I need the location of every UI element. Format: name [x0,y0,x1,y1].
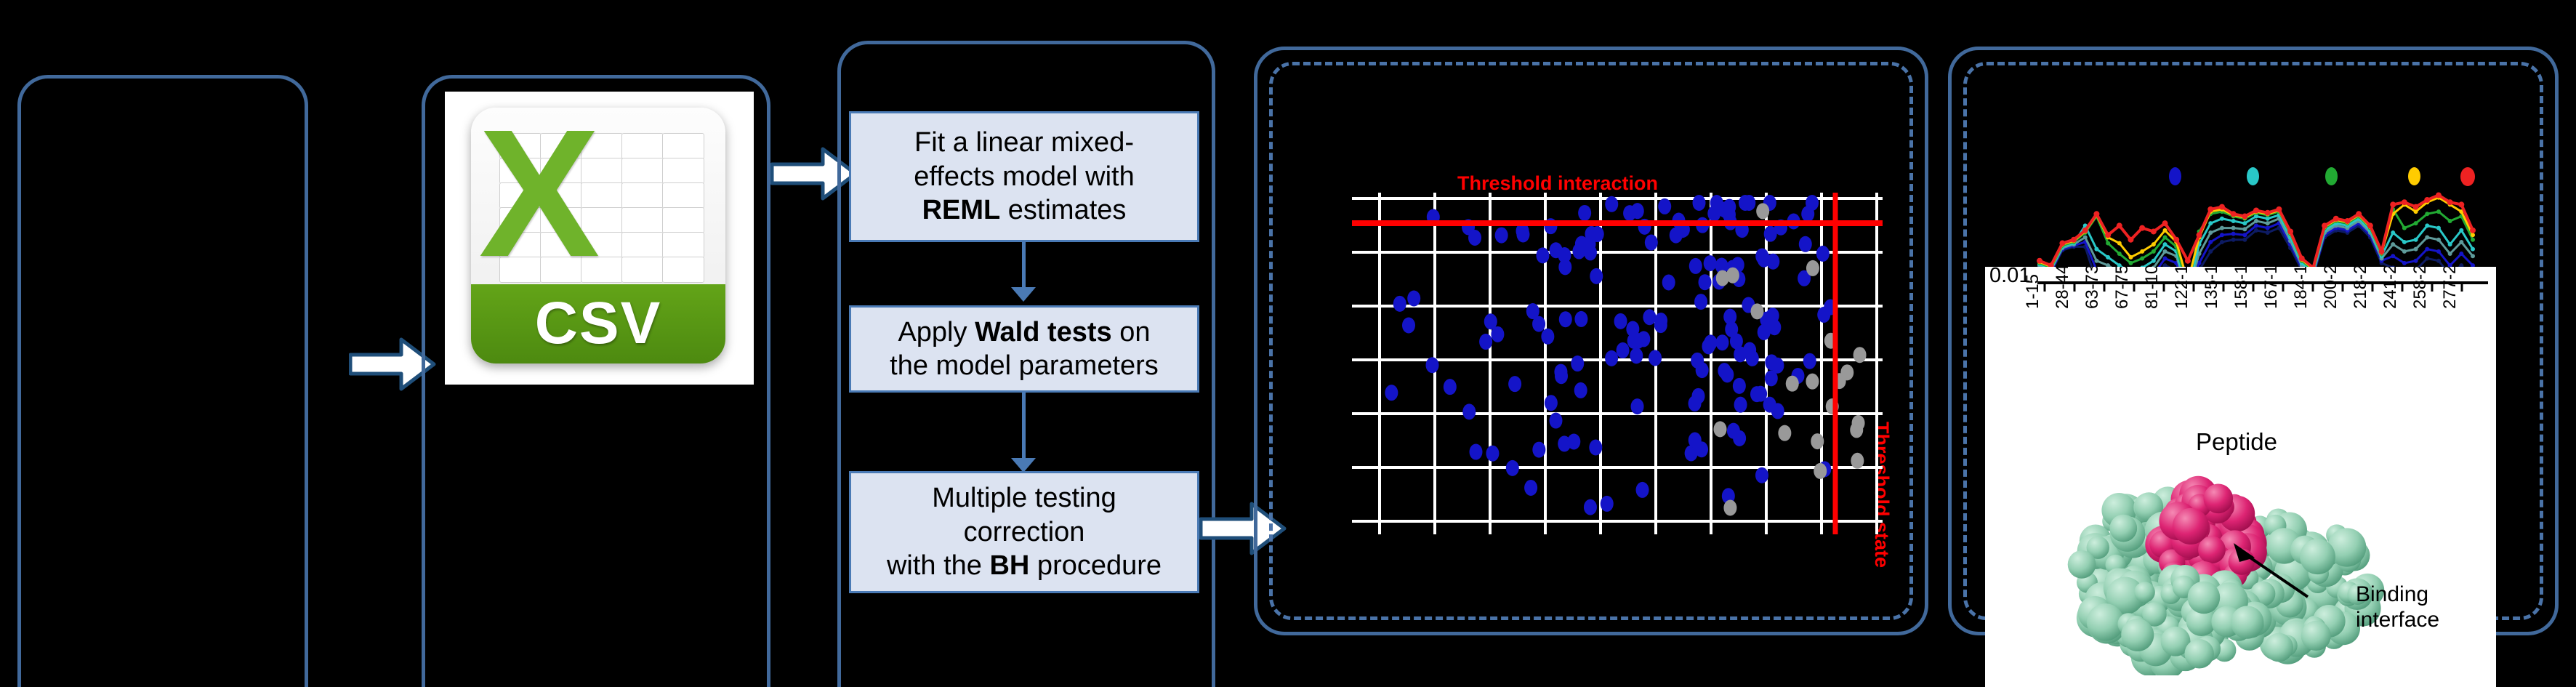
chart-data-point [2436,238,2441,242]
chart-data-point [2333,216,2339,222]
chart-data-point [2425,223,2429,228]
chart-data-point [2299,255,2305,261]
chart-data-point [2390,201,2396,207]
chart-data-point [2436,226,2441,230]
chart-data-point [2276,206,2282,212]
scatter-plot [1352,193,1883,534]
peptide-tick-label: 200-214 [2321,267,2341,309]
chart-data-point [2254,223,2258,228]
scatter-point [1765,354,1778,370]
peptide-tick-label: 158-166 [2231,267,2252,309]
scatter-point [1589,440,1602,456]
scatter-point [1623,205,1636,221]
scatter-point [1575,236,1588,252]
scatter-point [1462,403,1476,419]
chart-data-point [2242,233,2247,237]
scatter-point [1689,433,1702,449]
csv-file-icon: X CSV [471,108,725,363]
scatter-point [1704,255,1717,271]
spreadsheet-cell [662,207,704,233]
scatter-point [1704,334,1717,350]
scatter-point [1713,421,1726,437]
chart-data-point [2242,221,2247,225]
chart-data-point [2253,207,2259,213]
chart-data-point [2322,222,2327,228]
chart-data-point [2152,259,2156,263]
chart-data-point [2207,206,2213,212]
scatter-point [1614,313,1627,329]
scatter-point [1584,499,1597,515]
chart-data-point [2094,259,2098,263]
input-panel [17,75,308,687]
chart-data-point [2208,240,2213,244]
protein-surface-blob [2231,606,2263,638]
chart-data-point [2471,233,2475,237]
peptide-tick-label: 241-257 [2380,267,2401,309]
peptide-tick-label: 63-73 [2082,267,2103,309]
chart-data-point [2425,256,2429,260]
chart-data-point [2448,242,2452,246]
binding-interface-blob [2204,484,2234,514]
chart-data-point [2471,254,2475,258]
peptide-tick-label: 184-199 [2291,267,2311,309]
chart-data-point [2414,259,2418,263]
chart-data-point [2391,242,2395,246]
chart-data-point [2152,249,2156,254]
chart-data-point [2356,211,2362,217]
scatter-point [1545,395,1558,411]
peptide-tick-label: 135-144 [2202,267,2222,309]
chart-data-point [2436,259,2441,263]
chart-data-point [2220,226,2224,230]
scatter-point [1720,366,1734,382]
chart-data-point [2266,230,2270,235]
scatter-point [1840,364,1853,380]
chart-data-point [2173,237,2179,243]
scatter-point [1689,395,1702,411]
chart-data-point [2163,249,2168,254]
scatter-point [1444,379,1457,395]
chart-data-point [2208,230,2213,235]
csv-label-band: CSV [471,284,725,363]
scatter-point [1806,374,1819,390]
chart-data-point [2391,254,2395,258]
scatter-point [1756,203,1769,219]
scatter-point [1526,303,1539,319]
scatter-point [1590,268,1603,284]
protein-surface-blob [2184,639,2213,668]
spreadsheet-cell [621,158,664,184]
chart-data-point [2414,238,2418,242]
scatter-point [1407,290,1420,306]
legend-dot-yellow [2408,167,2420,185]
chart-data-point [2162,220,2168,226]
scatter-point [1694,294,1707,310]
csv-caption: CSV [535,289,662,358]
chart-data-point [2459,252,2463,256]
chart-data-point [2459,228,2463,233]
scatter-point [1506,460,1519,476]
spreadsheet-cell [621,232,664,258]
chart-data-point [2082,228,2088,233]
scatter-point [1852,415,1865,431]
scatter-point [1778,425,1791,441]
scatter-point [1771,403,1784,419]
peptide-tick-label: 81-101 [2142,267,2162,309]
legend-dot-green [2325,167,2338,185]
scatter-point [1851,453,1864,469]
scatter-point [1567,433,1580,449]
protein-surface-blob [2134,582,2155,603]
multiple-testing-box: Multiple testingcorrectionwith the BH pr… [849,471,1199,593]
scatter-point [1707,206,1720,222]
spreadsheet-cell [662,158,704,184]
peptide-tick-label: 122-129 [2172,267,2192,309]
chart-data-point [2254,219,2258,223]
spreadsheet-cell [662,133,704,159]
chart-data-point [2266,226,2270,230]
connector-line-2 [1022,393,1026,465]
chart-data-point [2402,249,2407,254]
protein-surface-blob [2188,582,2221,614]
scatter-point [1734,346,1747,362]
protein-surface-blob [2264,633,2293,662]
chart-data-point [2471,247,2475,252]
chart-data-point [2436,209,2441,214]
chart-data-point [2402,261,2407,265]
scatter-point [1385,385,1398,401]
scatter-point [1532,442,1545,458]
chart-data-point [2185,258,2191,264]
chart-data-point [2163,236,2168,240]
scatter-point [1654,313,1667,329]
scatter-point [1806,195,1819,211]
chart-data-point [2242,227,2247,231]
csv-icon-background: X CSV [445,92,754,385]
chart-data-point [2470,228,2476,233]
chart-data-point [2139,225,2145,231]
protein-surface-blob [2301,621,2331,651]
scatter-point [1727,423,1740,439]
chart-data-point [2391,230,2395,235]
chart-data-point [2117,241,2122,246]
chart-data-point [2231,232,2236,236]
chart-data-point [2425,236,2429,240]
scatter-point [1617,342,1630,358]
binding-interface-blob [2173,508,2209,545]
scatter-point [1486,446,1499,462]
chart-data-point [2379,249,2385,254]
fit-model-box: Fit a linear mixed-effects model withREM… [849,111,1199,242]
scatter-point [1591,226,1604,242]
scatter-point [1723,500,1736,516]
scatter-point [1558,247,1571,263]
chart-data-point [2414,209,2418,214]
chart-data-point [2163,256,2168,260]
scatter-point [1742,195,1755,211]
binding-interface-line2: interface [2356,608,2439,633]
chart-data-point [2367,222,2373,228]
scatter-point [1726,268,1739,284]
threshold-interaction-label: Threshold interaction [1457,172,1658,195]
chart-data-point [2266,221,2270,225]
scatter-point [1631,398,1644,414]
chart-data-point [2231,226,2236,230]
scatter-point [1637,331,1650,347]
scatter-point [1765,370,1778,386]
scatter-point [1636,482,1649,498]
chart-data-point [2254,228,2258,233]
scatter-point [1578,205,1591,221]
spreadsheet-cell [621,182,664,209]
scatter-point [1574,382,1587,398]
scatter-point [1799,236,1812,252]
chart-data-point [2117,252,2122,256]
legend-dot-red [2460,167,2475,186]
scatter-point [1605,196,1618,212]
chart-data-point [2219,204,2225,210]
chart-data-point [2414,247,2418,252]
peptide-tick-label: 277-284 [2440,267,2460,309]
scatter-point [1670,228,1683,244]
chart-data-point [2197,232,2202,238]
chart-data-point [2458,201,2464,207]
scatter-point [1803,353,1816,369]
chart-data-point [2402,240,2407,244]
chart-data-point [2242,238,2247,242]
scatter-point [1495,228,1508,244]
chart-data-point [2151,228,2157,234]
scatter-point [1806,260,1819,276]
chart-data-point [2448,219,2452,223]
peptide-structure-card: 0.01 1-1528-4463-7367-7581-101122-129135… [1985,267,2496,687]
chart-data-point [2402,199,2407,205]
chart-data-point [2083,236,2088,240]
peptide-tick-label: 167-180 [2261,267,2282,309]
chart-data-point [2106,241,2110,246]
chart-data-point [2093,211,2099,217]
chart-data-point [2344,218,2350,224]
scatter-point [1643,309,1656,325]
scatter-point [1549,413,1562,429]
chart-data-point [2448,252,2452,256]
scatter-point [1814,463,1827,479]
scatter-point [1524,480,1537,496]
scatter-point [1479,334,1492,350]
scatter-point [1626,321,1639,337]
chart-data-point [2106,255,2110,260]
peptide-tick-label: 218-237 [2351,267,2371,309]
peptide-tick-label: 28-44 [2053,267,2073,309]
chart-data-point [2402,226,2407,230]
scatter-point [1754,386,1767,402]
scatter-point [1645,235,1658,251]
scatter-point [1696,362,1709,378]
chart-data-point [2436,193,2442,198]
scatter-point [1541,329,1554,345]
scatter-point [1733,378,1746,394]
protein-surface-blob [2109,515,2137,542]
chart-data-point [2471,238,2475,242]
scatter-point [1699,274,1712,290]
chart-data-point [2414,221,2418,225]
scatter-point [1630,347,1643,363]
chart-data-point [2231,211,2237,217]
chart-data-point [2059,241,2065,246]
wald-tests-box-text: Apply Wald tests onthe model parameters [882,316,1166,383]
spreadsheet-cell [662,232,704,258]
chart-data-point [2425,212,2429,216]
chart-data-point [2140,256,2144,260]
chart-data-point [2265,210,2271,216]
scatter-point [1393,296,1406,312]
scatter-point [1554,364,1567,380]
scatter-point [1491,326,1504,342]
scatter-point [1468,230,1481,246]
chart-data-point [2071,237,2077,243]
chart-data-point [2242,214,2247,220]
connector-arrowhead-1 [1011,287,1036,302]
chart-data-point [2424,197,2430,203]
scatter-point [1508,376,1521,392]
connector-line-1 [1022,242,1026,293]
scatter-point [1574,311,1587,327]
protein-surface-blob [2300,539,2335,574]
scatter-point [1715,334,1728,350]
scatter-point [1764,226,1777,242]
scatter-point [1571,355,1584,371]
scatter-point [1750,303,1763,319]
scatter-point [1689,258,1702,274]
chart-data-point [2128,255,2133,260]
chart-data-point [2094,247,2098,252]
scatter-point [1559,311,1572,327]
chart-data-point [2105,232,2111,238]
multiple-testing-box-text: Multiple testingcorrectionwith the BH pr… [880,481,1169,582]
fit-model-box-text: Fit a linear mixed-effects model withREM… [906,126,1141,227]
legend-dot-blue [2169,167,2181,185]
protein-surface-blob [2068,550,2096,579]
scatter-point [1758,252,1771,268]
spreadsheet-cell [621,133,664,159]
spreadsheet-cell [662,182,704,209]
scatter-point [1786,376,1799,392]
chart-data-point [2447,199,2453,205]
scatter-point [1755,467,1768,483]
scatter-point [1734,397,1747,413]
chart-data-point [2220,240,2224,244]
chart-data-point [2163,228,2168,233]
scatter-point [1662,275,1675,291]
chart-data-point [2128,237,2133,243]
chart-data-point [2425,247,2429,252]
scatter-point [1402,318,1415,334]
chart-data-point [2220,233,2224,237]
scatter-point [1758,324,1771,340]
scatter-point [1601,496,1614,512]
chart-data-point [2208,249,2213,254]
scatter-point [1853,347,1867,363]
chart-data-point [2287,228,2293,234]
chart-data-point [2163,242,2168,246]
legend-dot-cyan [2247,167,2259,185]
scatter-point [1605,350,1618,366]
scatter-point [1426,357,1439,373]
scatter-point [1469,444,1482,460]
protein-surface-blob [2121,619,2154,651]
chart-data-point [2140,249,2144,254]
scatter-point [1816,246,1830,262]
connector-arrowhead-2 [1011,458,1036,473]
scatter-point [1725,321,1738,337]
wald-tests-box: Apply Wald tests onthe model parameters [849,305,1199,393]
peptide-tick-label: 258-266 [2410,267,2431,309]
scatter-point [1649,350,1662,366]
binding-interface-line1: Binding [2356,582,2439,608]
chart-data-point [2152,242,2156,246]
chart-data-point [2231,219,2236,223]
peptide-tick-label: 67-75 [2112,267,2133,309]
peptide-axis-title: Peptide [2196,428,2277,456]
binding-interface-annotation: Binding interface [2356,582,2439,632]
scatter-point [1658,198,1671,214]
chart-data-point [2128,261,2133,265]
peptide-tick-label: 1-15 [2023,274,2043,309]
scatter-point [1811,433,1824,449]
chart-data-point [2413,204,2419,210]
chart-data-point [2208,221,2213,225]
chart-data-point [2037,258,2042,264]
chart-data-point [2231,238,2236,242]
scatter-point [1536,247,1549,263]
spreadsheet-cell [621,207,664,233]
scatter-point [1693,195,1706,211]
chart-data-point [2436,249,2441,254]
chart-data-point [2220,217,2224,221]
scatter-point [1723,199,1736,215]
protein-surface-structure [2052,465,2386,675]
excel-x-glyph: X [479,108,600,284]
chart-data-point [2117,222,2122,228]
chart-data-point [2459,240,2463,244]
